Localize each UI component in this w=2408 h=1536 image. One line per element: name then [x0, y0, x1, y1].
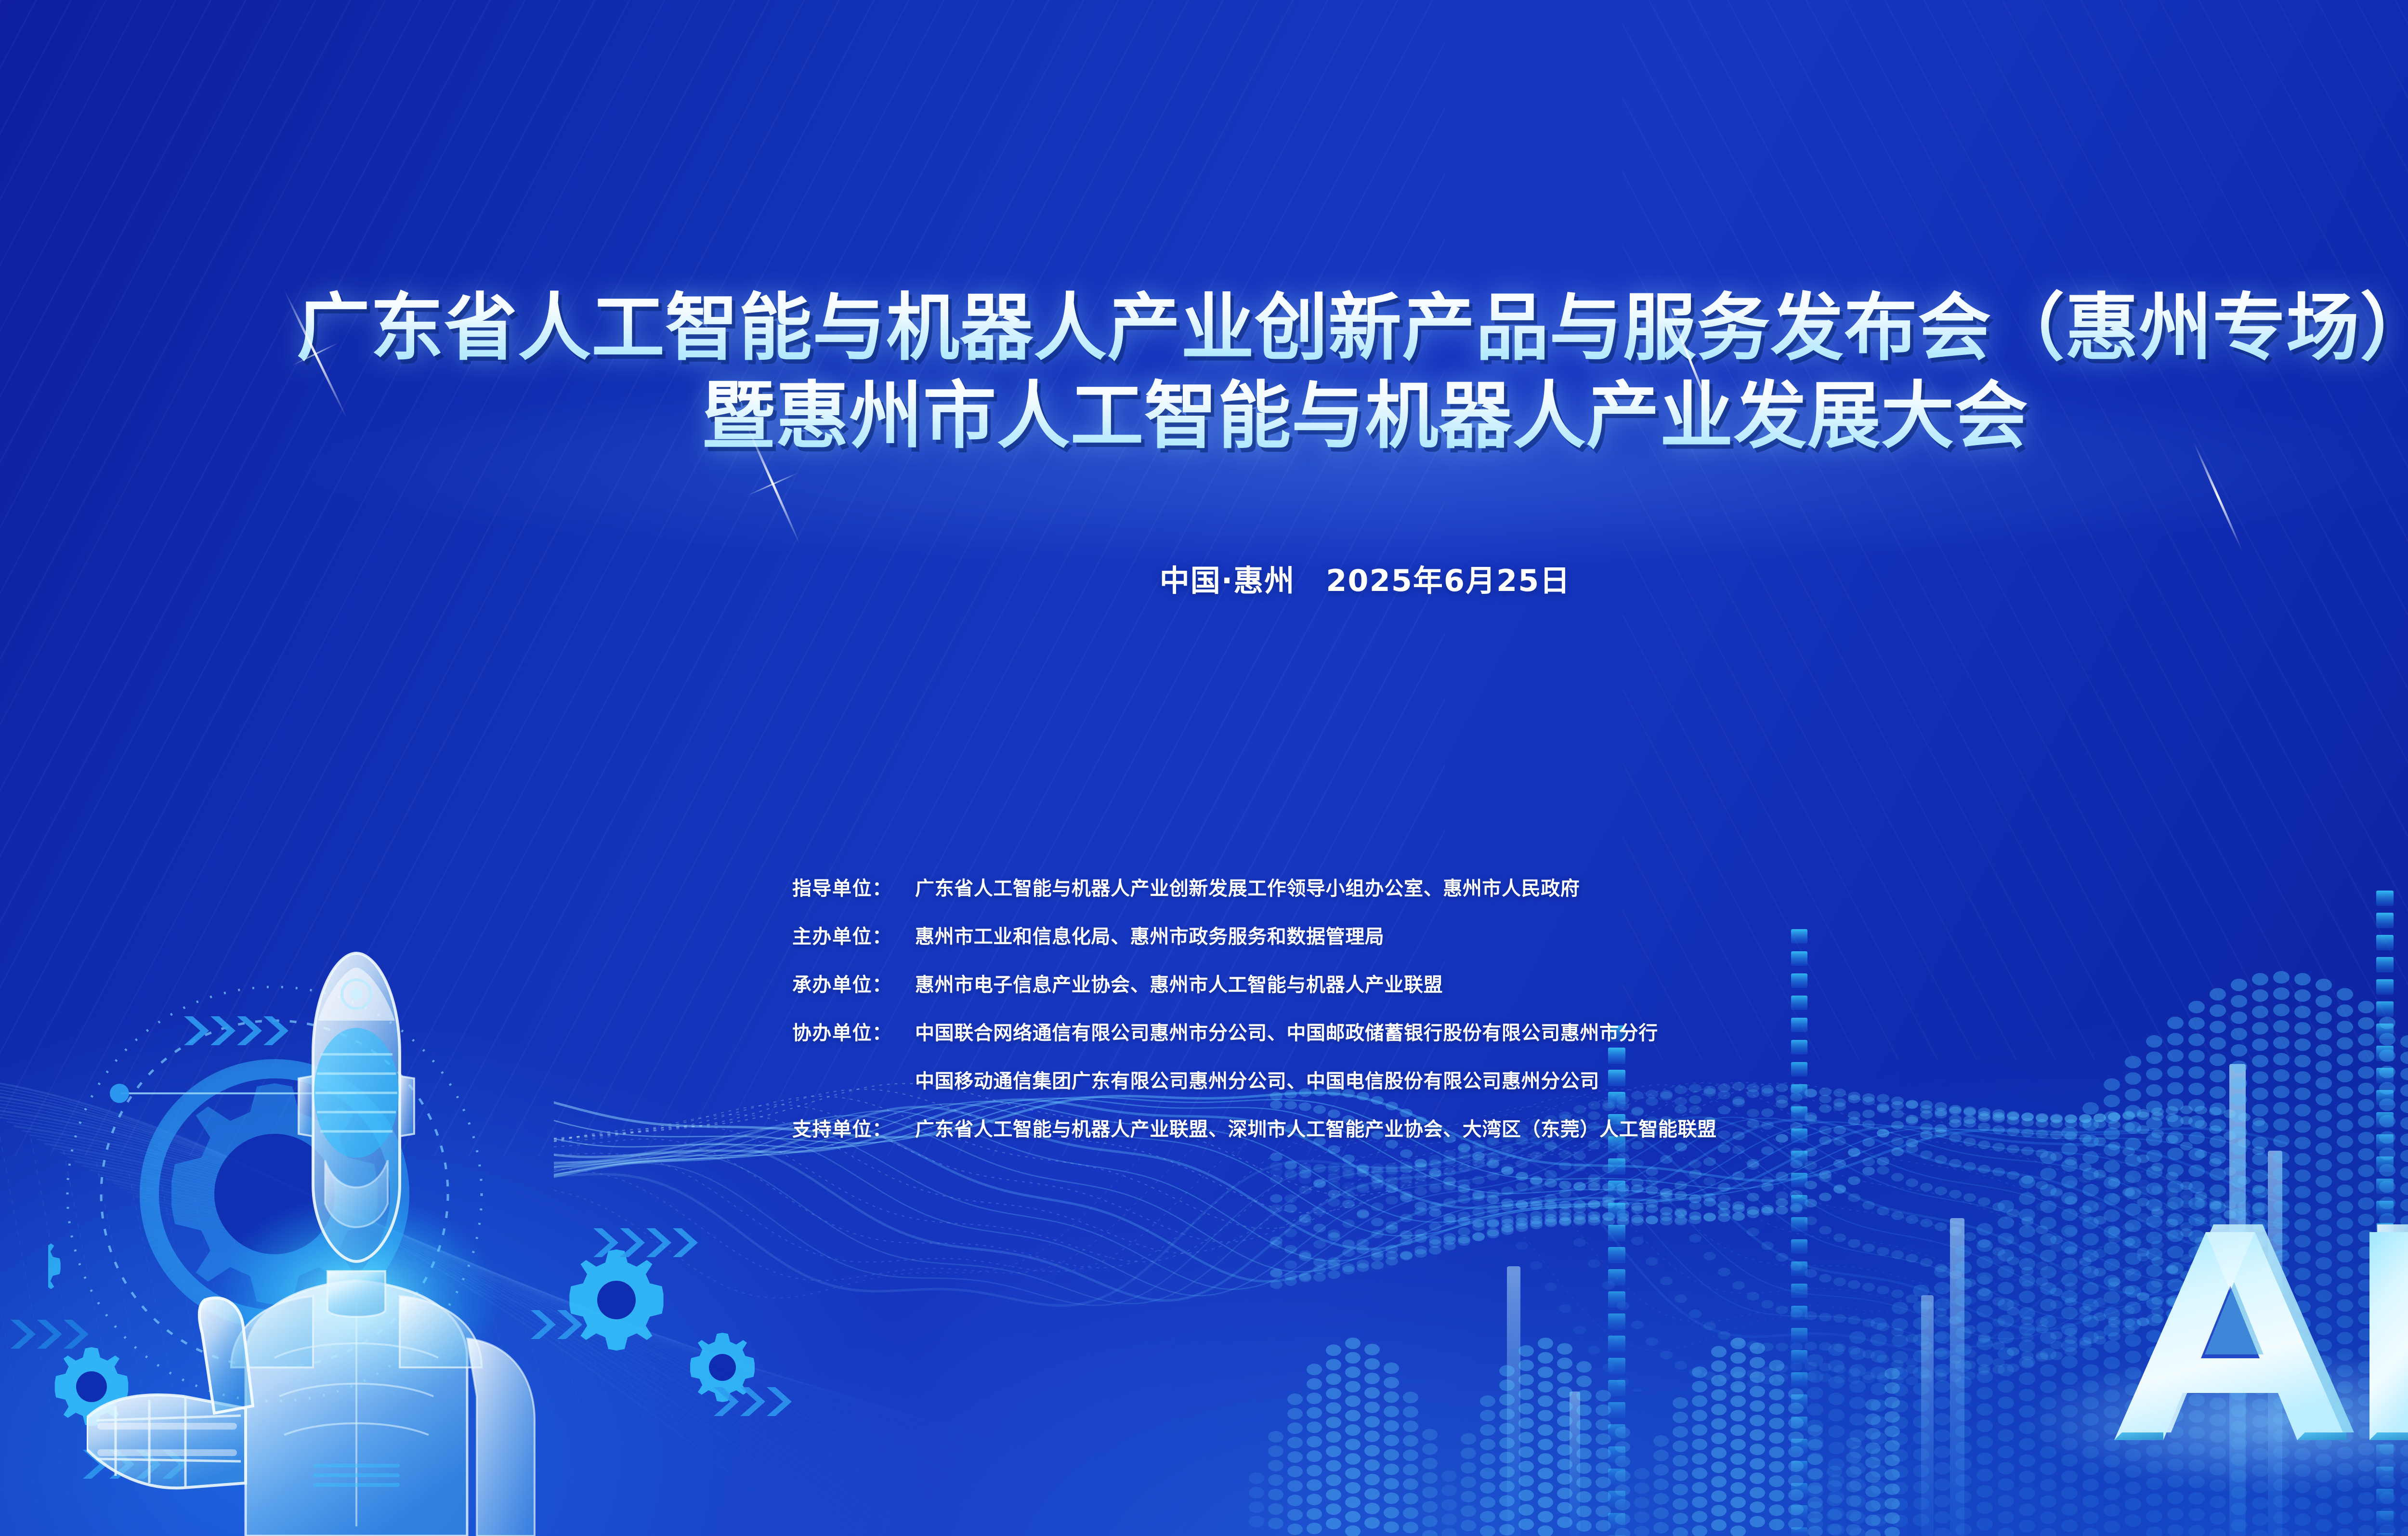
ai-logo-icon: [2085, 1214, 2408, 1464]
organizer-names: 广东省人工智能与机器人产业联盟、深圳市人工智能产业协会、大湾区（东莞）人工智能联…: [915, 1114, 1717, 1142]
organizer-role-label: 支持单位：: [792, 1114, 915, 1142]
poster-title-block: 广东省人工智能与机器人产业创新产品与服务发布会（惠州专场） 暨惠州市人工智能与机…: [0, 289, 2408, 455]
organizer-names: 中国移动通信集团广东有限公司惠州分公司、中国电信股份有限公司惠州分公司: [915, 1065, 1599, 1093]
organizer-role-label: 主办单位：: [792, 921, 915, 949]
organizer-list: 指导单位： 广东省人工智能与机器人产业创新发展工作领导小组办公室、惠州市人民政府…: [792, 873, 2285, 1162]
organizer-names: 广东省人工智能与机器人产业创新发展工作领导小组办公室、惠州市人民政府: [915, 873, 1580, 901]
page-title-line-1: 广东省人工智能与机器人产业创新产品与服务发布会（惠州专场）: [0, 289, 2408, 367]
list-item: 协办单位： 中国联合网络通信有限公司惠州市分公司、中国邮政储蓄银行股份有限公司惠…: [792, 1017, 2285, 1065]
sparkle-flare-icon: [243, 282, 388, 426]
organizer-role-label: 协办单位：: [792, 1017, 915, 1045]
sparkle-flare-icon: [2146, 424, 2290, 568]
gear-icons-group: [48, 968, 867, 1449]
organizer-role-label: 指导单位：: [792, 873, 915, 901]
robot-figure-icon: [87, 934, 713, 1536]
sparkle-flare-icon: [1618, 289, 1763, 433]
chevron-arrows-group: [0, 939, 915, 1536]
organizer-names: 惠州市电子信息产业协会、惠州市人工智能与机器人产业联盟: [915, 969, 1443, 997]
list-item: 指导单位： 广东省人工智能与机器人产业创新发展工作领导小组办公室、惠州市人民政府: [792, 873, 2285, 921]
list-item: 协办单位： 中国移动通信集团广东有限公司惠州分公司、中国电信股份有限公司惠州分公…: [792, 1065, 2285, 1114]
organizer-names: 惠州市工业和信息化局、惠州市政务服务和数据管理局: [915, 921, 1384, 949]
list-item: 承办单位： 惠州市电子信息产业协会、惠州市人工智能与机器人产业联盟: [792, 969, 2285, 1017]
event-subtitle: 中国·惠州 2025年6月25日: [0, 556, 2408, 600]
list-item: 支持单位： 广东省人工智能与机器人产业联盟、深圳市人工智能产业协会、大湾区（东莞…: [792, 1114, 2285, 1162]
poster-canvas: 广东省人工智能与机器人产业创新产品与服务发布会（惠州专场） 暨惠州市人工智能与机…: [0, 0, 2408, 1536]
organizer-names: 中国联合网络通信有限公司惠州市分公司、中国邮政储蓄银行股份有限公司惠州市分行: [915, 1017, 1658, 1045]
title-glow: [258, 366, 2408, 568]
sparkle-flare-icon: [701, 412, 845, 556]
page-title-line-2: 暨惠州市人工智能与机器人产业发展大会: [0, 377, 2408, 455]
list-item: 主办单位： 惠州市工业和信息化局、惠州市政务服务和数据管理局: [792, 921, 2285, 969]
ai-logo-glow: [2013, 1349, 2408, 1493]
organizer-role-label: 承办单位：: [792, 969, 915, 997]
